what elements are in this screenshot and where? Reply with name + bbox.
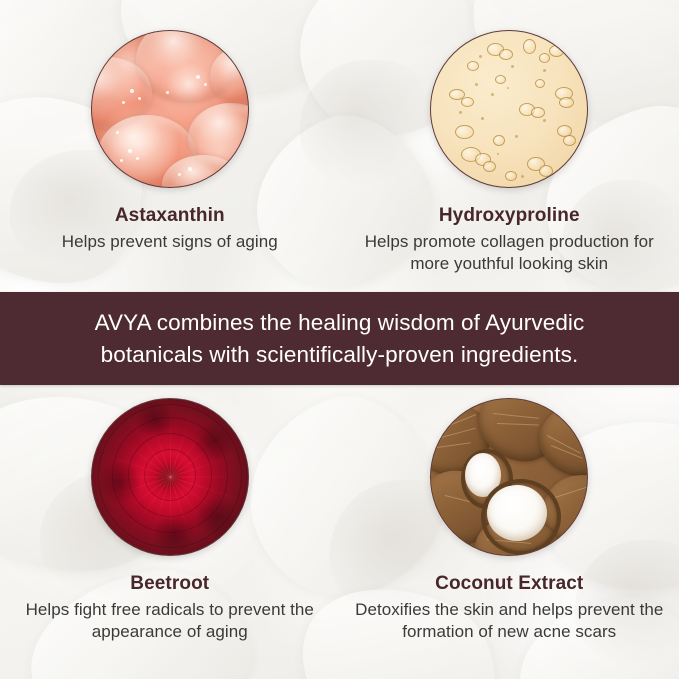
ingredient-card-astaxanthin: Astaxanthin Helps prevent signs of aging <box>0 30 340 253</box>
astaxanthin-caption: Astaxanthin Helps prevent signs of aging <box>0 204 340 253</box>
ingredient-description-coconut-extract: Detoxifies the skin and helps prevent th… <box>354 599 666 643</box>
brand-statement-banner: AVYA combines the healing wisdom of Ayur… <box>0 292 679 385</box>
ingredient-description-hydroxyproline: Helps promote collagen production for mo… <box>354 231 666 275</box>
ingredient-name-astaxanthin: Astaxanthin <box>14 204 326 228</box>
ingredient-card-beetroot: Beetroot Helps fight free radicals to pr… <box>0 398 340 642</box>
ingredient-card-hydroxyproline: Hydroxyproline Helps promote collagen pr… <box>340 30 679 274</box>
coconut-extract-caption: Coconut Extract Detoxifies the skin and … <box>340 572 679 642</box>
beetroot-caption: Beetroot Helps fight free radicals to pr… <box>0 572 340 642</box>
coconut-halves-image <box>430 398 588 556</box>
brand-statement-line1: AVYA combines the healing wisdom of Ayur… <box>95 310 585 335</box>
brand-statement-text: AVYA combines the healing wisdom of Ayur… <box>73 307 607 370</box>
ingredient-description-astaxanthin: Helps prevent signs of aging <box>14 231 326 253</box>
hydroxyproline-serum-bubbles-image <box>430 30 588 188</box>
astaxanthin-gel-droplets-image <box>91 30 249 188</box>
ingredient-name-hydroxyproline: Hydroxyproline <box>354 204 666 228</box>
ingredient-card-coconut-extract: Coconut Extract Detoxifies the skin and … <box>340 398 679 642</box>
ingredient-description-beetroot: Helps fight free radicals to prevent the… <box>14 599 326 643</box>
ingredient-name-beetroot: Beetroot <box>14 572 326 596</box>
ingredient-infographic: Astaxanthin Helps prevent signs of aging <box>0 0 679 679</box>
brand-statement-line2: botanicals with scientifically-proven in… <box>101 342 579 367</box>
beetroot-cross-section-image <box>91 398 249 556</box>
ingredient-name-coconut-extract: Coconut Extract <box>354 572 666 596</box>
hydroxyproline-caption: Hydroxyproline Helps promote collagen pr… <box>340 204 679 274</box>
